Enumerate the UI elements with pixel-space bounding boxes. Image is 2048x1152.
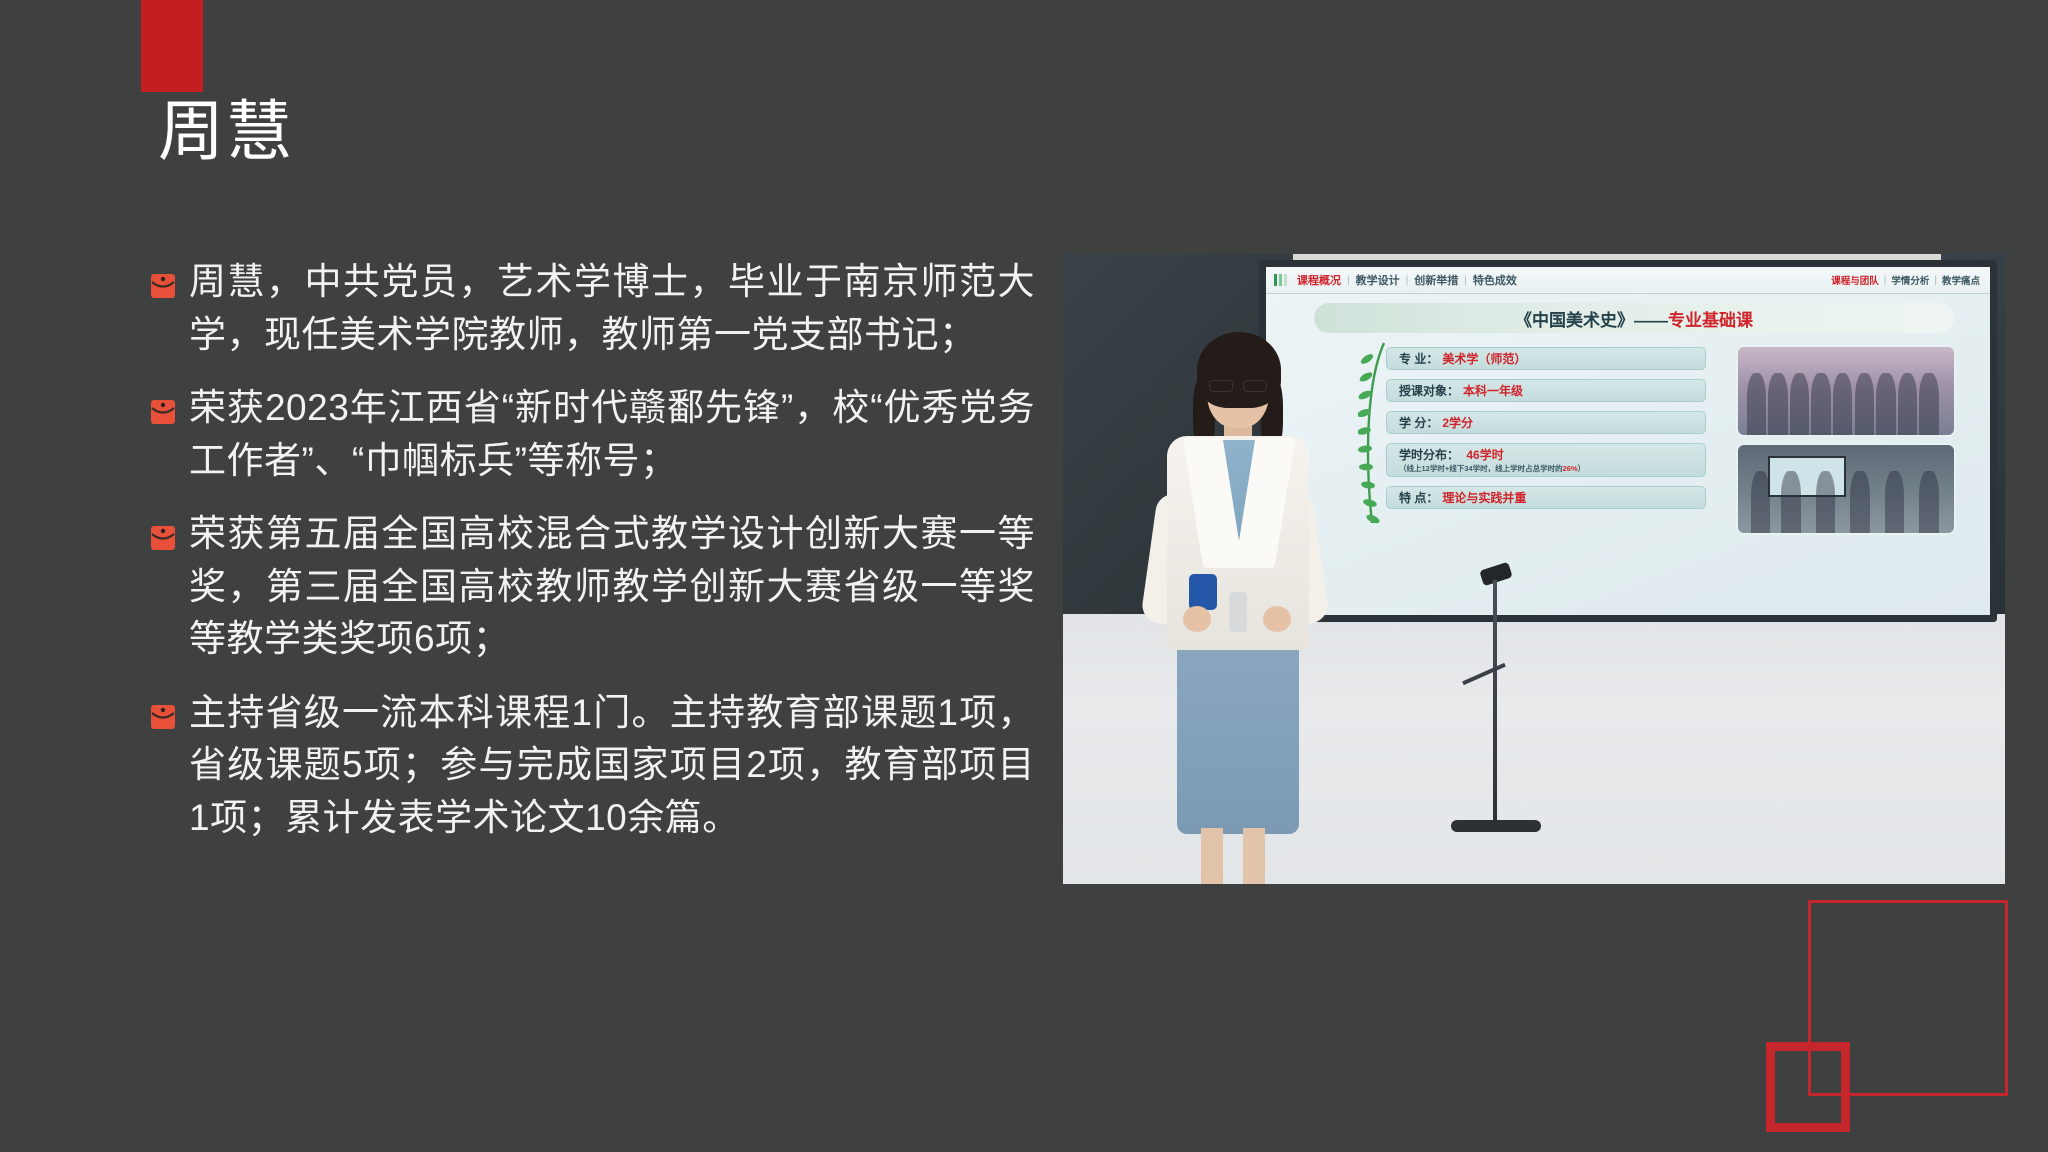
title-accent-block — [141, 0, 203, 92]
left-hand — [1183, 606, 1211, 632]
microphone-stand — [1493, 580, 1497, 830]
smartboard-title: 《中国美术史》—— — [1515, 306, 1668, 331]
page-title: 周慧 — [158, 98, 294, 164]
subtab-student-analysis: 学情分析 — [1891, 273, 1929, 287]
classroom-teaching-photo — [1736, 443, 1956, 535]
info-row-label: 专 业： — [1399, 350, 1438, 367]
list-item-text: 荣获2023年江西省“新时代赣鄱先锋”，校“优秀党务工作者”、“巾帼标兵”等称号… — [189, 382, 1035, 487]
group-figures — [1738, 373, 1954, 435]
list-item: 主持省级一流本科课程1门。主持教育部课题1项，省级课题5项；参与完成国家项目2项… — [150, 687, 1035, 845]
smartboard-nav-right: 课程与团队 | 学情分析 | 教学痛点 — [1831, 273, 1980, 287]
briefcase-bullet-icon — [150, 702, 176, 731]
info-row-value: 美术学（师范） — [1442, 350, 1526, 367]
info-row-main: 学时分布： 46学时 — [1399, 446, 1504, 463]
skirt — [1177, 644, 1299, 834]
stripes-icon — [1274, 274, 1287, 286]
red-outline-rect-small — [1766, 1042, 1850, 1132]
info-row-note-accent: 26% — [1563, 464, 1578, 473]
briefcase-bullet-icon — [150, 523, 176, 552]
smartboard-navbar: 课程概况 | 教学设计 | 创新举措 | 特色成效 课程与团队 | 学情分析 |… — [1266, 267, 1990, 294]
info-row-value: 46学时 — [1466, 448, 1503, 462]
nav-separator: | — [1464, 275, 1467, 286]
tab-innovation: 创新举措 — [1414, 272, 1458, 288]
nav-separator: | — [1884, 275, 1887, 286]
tab-course-overview: 课程概况 — [1297, 272, 1341, 288]
info-row-note-post: ） — [1578, 464, 1586, 473]
name-badge — [1189, 574, 1217, 610]
info-row-note: （线上12学时+线下34学时，线上学时占总学时的26%） — [1399, 463, 1585, 474]
info-row-label: 特 点： — [1399, 489, 1438, 506]
presenter-clicker — [1229, 592, 1247, 632]
info-row-label: 学时分布： — [1399, 448, 1459, 462]
right-leg — [1243, 828, 1265, 884]
subtab-course-team: 课程与团队 — [1831, 273, 1879, 287]
list-item-text: 周慧，中共党员，艺术学博士，毕业于南京师范大学，现任美术学院教师，教师第一党支部… — [189, 256, 1035, 361]
info-row-feature: 特 点： 理论与实践并重 — [1386, 486, 1706, 509]
subtab-pain-points: 教学痛点 — [1942, 273, 1980, 287]
info-row-note-pre: （线上12学时+线下34学时，线上学时占总学时的 — [1399, 464, 1563, 473]
teacher-figure — [1123, 324, 1353, 884]
briefcase-bullet-icon — [150, 397, 176, 426]
tab-results: 特色成效 — [1473, 272, 1517, 288]
teacher-presenting-photo: 课程概况 | 教学设计 | 创新举措 | 特色成效 课程与团队 | 学情分析 |… — [1063, 254, 2005, 884]
nav-separator: | — [1406, 275, 1409, 286]
student-figures — [1738, 471, 1954, 533]
info-row-value: 2学分 — [1442, 414, 1473, 431]
right-hand — [1263, 606, 1291, 632]
smartboard-title-accent: 专业基础课 — [1668, 306, 1753, 331]
info-row-credits: 学 分： 2学分 — [1386, 411, 1706, 434]
info-row-label: 授课对象： — [1399, 382, 1459, 399]
info-row-label: 学 分： — [1399, 414, 1438, 431]
info-row-hours: 学时分布： 46学时 （线上12学时+线下34学时，线上学时占总学时的26%） — [1386, 443, 1706, 477]
class-group-photo — [1736, 345, 1956, 437]
list-item: 荣获2023年江西省“新时代赣鄱先锋”，校“优秀党务工作者”、“巾帼标兵”等称号… — [150, 382, 1035, 487]
microphone-base — [1451, 820, 1541, 832]
list-item: 周慧，中共党员，艺术学博士，毕业于南京师范大学，现任美术学院教师，教师第一党支部… — [150, 256, 1035, 361]
info-row-major: 专 业： 美术学（师范） — [1386, 347, 1706, 370]
list-item: 荣获第五届全国高校混合式教学设计创新大赛一等奖，第三届全国高校教师教学创新大赛省… — [150, 508, 1035, 666]
list-item-text: 主持省级一流本科课程1门。主持教育部课题1项，省级课题5项；参与完成国家项目2项… — [189, 687, 1035, 845]
smartboard-info-rows: 专 业： 美术学（师范） 授课对象： 本科一年级 学 分： 2学分 学时分布： … — [1386, 347, 1706, 518]
info-row-audience: 授课对象： 本科一年级 — [1386, 379, 1706, 402]
list-item-text: 荣获第五届全国高校混合式教学设计创新大赛一等奖，第三届全国高校教师教学创新大赛省… — [189, 508, 1035, 666]
smartboard-title-pill: 《中国美术史》—— 专业基础课 — [1314, 303, 1954, 333]
briefcase-bullet-icon — [150, 271, 176, 300]
nav-separator: | — [1347, 275, 1350, 286]
hair-top — [1197, 332, 1281, 408]
bio-bullet-list: 周慧，中共党员，艺术学博士，毕业于南京师范大学，现任美术学院教师，教师第一党支部… — [150, 256, 1035, 865]
nav-separator: | — [1934, 275, 1937, 286]
info-row-value: 本科一年级 — [1463, 382, 1523, 399]
left-leg — [1201, 828, 1223, 884]
smartboard-nav-left: 课程概况 | 教学设计 | 创新举措 | 特色成效 — [1274, 272, 1517, 288]
smartboard-screen: 课程概况 | 教学设计 | 创新举措 | 特色成效 课程与团队 | 学情分析 |… — [1266, 267, 1990, 615]
info-row-value: 理论与实践并重 — [1442, 489, 1526, 506]
glasses-icon — [1209, 380, 1267, 392]
smartboard-display: 课程概况 | 教学设计 | 创新举措 | 特色成效 课程与团队 | 学情分析 |… — [1259, 260, 1997, 622]
tab-teaching-design: 教学设计 — [1356, 272, 1400, 288]
